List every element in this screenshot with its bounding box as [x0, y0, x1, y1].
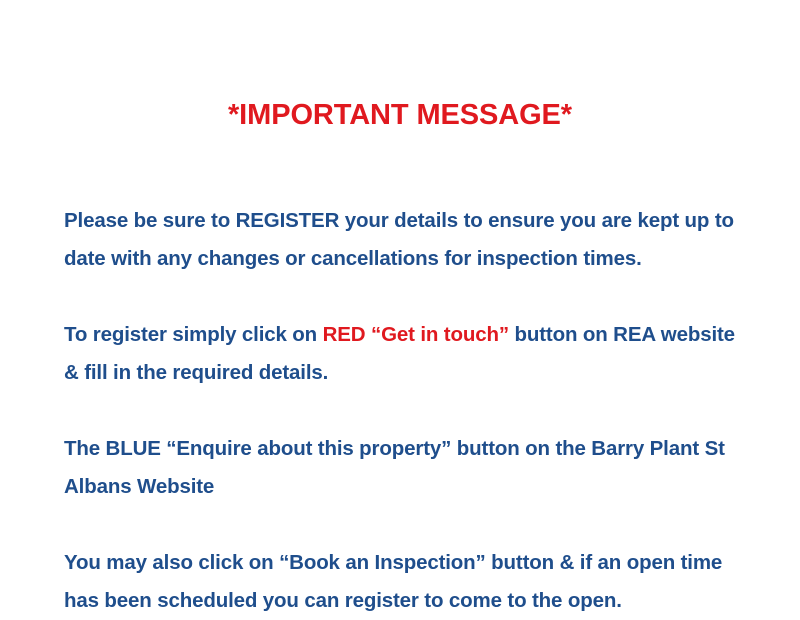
paragraph-book-an-inspection: You may also click on “Book an Inspectio… [64, 544, 740, 620]
paragraph-spacer [64, 278, 740, 316]
paragraph-barry-plant-enquire: The BLUE “Enquire about this property” b… [64, 430, 740, 506]
paragraph-rea-get-in-touch: To register simply click on RED “Get in … [64, 316, 740, 392]
paragraph-spacer [64, 506, 740, 544]
slide-body: Please be sure to REGISTER your details … [64, 202, 740, 620]
run-red-get-in-touch: RED “Get in touch” [323, 323, 509, 346]
run-register-details-text: Please be sure to REGISTER your details … [64, 209, 734, 270]
run-to-register-prefix: To register simply click on [64, 323, 323, 346]
paragraph-register-details: Please be sure to REGISTER your details … [64, 202, 740, 278]
paragraph-spacer [64, 392, 740, 430]
run-book-an-inspection-text: You may also click on “Book an Inspectio… [64, 551, 722, 612]
run-barry-plant-enquire-text: The BLUE “Enquire about this property” b… [64, 437, 725, 498]
slide-canvas: *IMPORTANT MESSAGE* Please be sure to RE… [0, 0, 800, 600]
page-title: *IMPORTANT MESSAGE* [0, 96, 800, 134]
